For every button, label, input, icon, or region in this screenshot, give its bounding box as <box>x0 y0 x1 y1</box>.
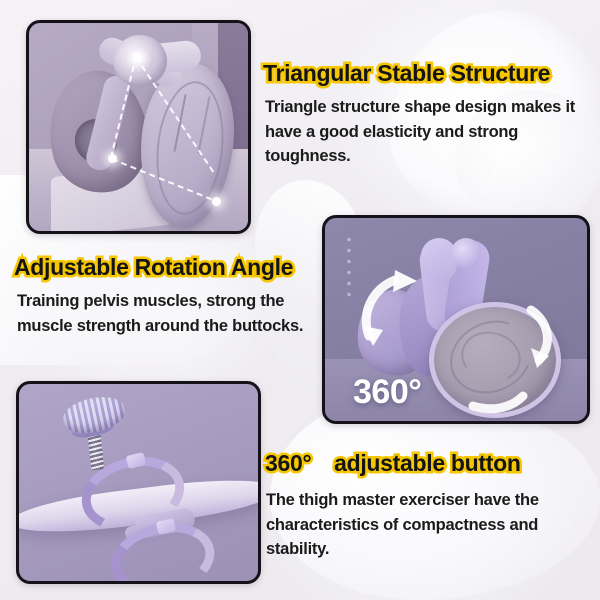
feature-headline-adjustable-rotation-angle: Adjustable Rotation Angle <box>14 252 293 282</box>
product-feature-infographic: 360° Triangular Stable Structure Triangl… <box>0 0 600 600</box>
rotation-angle-photo-inner: 360° <box>325 218 587 421</box>
feature-body-adjustable-rotation-angle: Training pelvis muscles, strong the musc… <box>17 289 307 338</box>
triangle-vertex-dot-left <box>108 154 117 163</box>
adjustable-button-parts-photo <box>16 381 261 584</box>
rotation-angle-photo: 360° <box>322 215 590 424</box>
feature-body-adjustable-button: The thigh master exerciser have the char… <box>266 488 594 562</box>
feature-headline-triangular-stable-structure: Triangular Stable Structure <box>263 58 550 88</box>
feature-body-triangular-stable-structure: Triangle structure shape design makes it… <box>265 95 595 169</box>
triangle-vertex-dot-right <box>212 197 221 206</box>
triangle-structure-photo-inner <box>29 23 248 231</box>
feature-headline-adjustable-button: 360° adjustable button <box>265 448 521 478</box>
triangle-vertex-dot-top <box>133 53 142 62</box>
triangle-structure-photo <box>26 20 251 234</box>
adjustable-button-parts-photo-inner <box>19 384 258 581</box>
rotation-arrow-head-top <box>393 270 417 292</box>
rotation-arrow-bottom-arc <box>473 396 523 409</box>
rotation-badge-label: 360° <box>353 375 421 409</box>
